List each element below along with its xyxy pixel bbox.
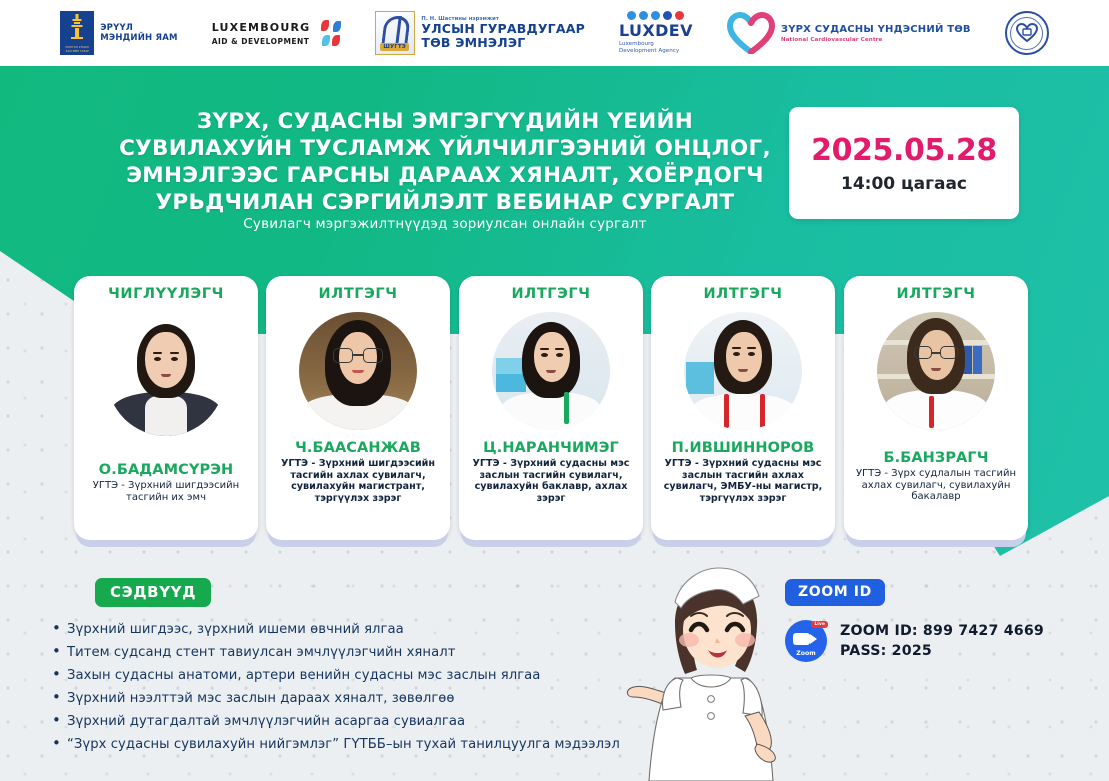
poster-canvas: МОНГОЛ УЛСЫН ЗАСГИЙН ГАЗАР ЭРҮҮЛ МЭНДИЙН…: [0, 0, 1109, 781]
speaker-card: ИЛТГЭГЧ: [844, 276, 1028, 540]
zoom-logo-label: Zoom: [785, 650, 827, 657]
list-item: Зүрхний шигдээс, зүрхний ишеми өвчний ял…: [45, 618, 665, 641]
speaker-card-list: ЧИГЛҮҮЛЭГЧ О.БАДАМСҮРЭН УГТЭ - Зүрхний ш…: [0, 276, 1109, 542]
luxdev-wordmark: LUXDEV: [619, 22, 693, 39]
sponsor-logo-bar: МОНГОЛ УЛСЫН ЗАСГИЙН ГАЗАР ЭРҮҮЛ МЭНДИЙН…: [0, 0, 1109, 66]
speaker-description: УГТЭ - Зүрхний шигдээсийн тасгийн их эмч: [81, 480, 251, 503]
hospital-line-3: ТӨВ ЭМНЭЛЭГ: [421, 36, 585, 50]
speaker-role: ИЛТГЭГЧ: [511, 286, 590, 302]
seal-heart-icon: [1016, 23, 1038, 43]
speaker-name: П.ИВШИННОРОВ: [672, 440, 815, 456]
list-item: “Зүрх судасны сувилахуйн нийгэмлэг” ГҮТБ…: [45, 733, 665, 756]
event-date: 2025.05.28: [811, 133, 997, 168]
speaker-photo: [877, 312, 995, 430]
zoom-passcode: PASS: 2025: [840, 641, 1044, 661]
speaker-photo: [492, 312, 610, 430]
event-time: 14:00 цагаас: [841, 174, 967, 194]
topics-list: Зүрхний шигдээс, зүрхний ишеми өвчний ял…: [45, 618, 665, 756]
speaker-name: Б.БАНЗРАГЧ: [883, 450, 988, 466]
ncc-line-en: National Cardiovascular Centre: [781, 37, 971, 43]
hospital-emblem-icon: ШУГТЭ: [375, 11, 415, 55]
speaker-name: Ц.НАРАНЧИМЭГ: [483, 440, 619, 456]
hospital-line-2: УЛСЫН ГУРАВДУГААР: [421, 22, 585, 36]
speaker-role: ЧИГЛҮҮЛЭГЧ: [108, 286, 224, 302]
speaker-photo: [107, 318, 225, 436]
luxembourg-line-1: LUXEMBOURG: [212, 21, 311, 34]
page-subtitle: Сувилагч мэргэжилтнүүдэд зориулсан онлай…: [115, 216, 775, 232]
list-item: Титем судсанд стент тавиулсан эмчлүүлэгч…: [45, 641, 665, 664]
logo-institution-seal: [1005, 11, 1049, 55]
luxdev-sub-2: Development Agency: [619, 48, 679, 55]
heart-icon: [727, 12, 775, 54]
ncc-label: ЗҮРХ СУДАСНЫ ҮНДЭСНИЙ ТӨВ National Cardi…: [781, 24, 971, 43]
luxembourg-line-2: AID & DEVELOPMENT: [212, 37, 311, 46]
list-item: Захын судасны анатоми, артери венийн суд…: [45, 664, 665, 687]
speaker-name: О.БАДАМСҮРЭН: [99, 462, 233, 478]
hospital-label: П. Н. Шастины нэрэмжит УЛСЫН ГУРАВДУГААР…: [421, 16, 585, 50]
mongolia-emblem-icon: МОНГОЛ УЛСЫН ЗАСГИЙН ГАЗАР: [60, 11, 94, 55]
speaker-card: ЧИГЛҮҮЛЭГЧ О.БАДАМСҮРЭН УГТЭ - Зүрхний ш…: [74, 276, 258, 540]
logo-luxembourg-aid: LUXEMBOURG AID & DEVELOPMENT: [212, 20, 342, 46]
zoom-details: Zoom Live ZOOM ID: 899 7427 4669 PASS: 2…: [785, 620, 1044, 662]
speaker-card: ИЛТГЭГЧ Ч.БААСАНЖАВ УГТЭ - Зүрхний шигдэ…: [266, 276, 450, 540]
hospital-emblem-badge: ШУГТЭ: [380, 43, 409, 51]
luxdev-sub-1: Luxembourg: [619, 41, 654, 48]
speaker-description: УГТЭ - Зүрх судлалын тасгийн ахлах сувил…: [851, 468, 1021, 503]
logo-ministry-of-health: МОНГОЛ УЛСЫН ЗАСГИЙН ГАЗАР ЭРҮҮЛ МЭНДИЙН…: [60, 11, 177, 55]
ministry-line-2: МЭНДИЙН ЯАМ: [100, 33, 177, 43]
ministry-line-1: ЭРҮҮЛ: [100, 23, 177, 33]
speaker-photo: [299, 312, 417, 430]
speaker-card: ИЛТГЭГЧ П.ИВШИННОРОВ УГТ: [651, 276, 835, 540]
speaker-description: УГТЭ - Зүрхний шигдээсийн тасгийн ахлах …: [273, 458, 443, 504]
ministry-emblem-caption: МОНГОЛ УЛСЫН ЗАСГИЙН ГАЗАР: [60, 46, 94, 53]
speaker-photo: [684, 312, 802, 430]
logo-state-third-hospital: ШУГТЭ П. Н. Шастины нэрэмжит УЛСЫН ГУРАВ…: [375, 11, 585, 55]
speaker-description: УГТЭ - Зүрхний судасны мэс заслын тасгий…: [658, 458, 828, 504]
luxembourg-petal-icon: [321, 20, 341, 46]
speaker-role: ИЛТГЭГЧ: [318, 286, 397, 302]
list-item: Зүрхний нээлттэй мэс заслын дараах хянал…: [45, 687, 665, 710]
zoom-meeting-id: ZOOM ID: 899 7427 4669: [840, 621, 1044, 641]
ncc-line-mn: ЗҮРХ СУДАСНЫ ҮНДЭСНИЙ ТӨВ: [781, 24, 971, 35]
speaker-card: ИЛТГЭГЧ Ц.НАРАНЧИМЭГ УГТ: [459, 276, 643, 540]
speaker-name: Ч.БААСАНЖАВ: [295, 440, 421, 456]
zoom-id-badge: ZOOM ID: [785, 579, 885, 606]
topics-badge: СЭДВҮҮД: [95, 578, 211, 607]
date-card: 2025.05.28 14:00 цагаас: [789, 107, 1019, 219]
speaker-description: УГТЭ - Зүрхний судасны мэс заслын тасгий…: [466, 458, 636, 504]
ministry-of-health-label: ЭРҮҮЛ МЭНДИЙН ЯАМ: [100, 23, 177, 43]
luxdev-dots-icon: [627, 11, 684, 20]
zoom-credentials: ZOOM ID: 899 7427 4669 PASS: 2025: [840, 621, 1044, 661]
luxembourg-label: LUXEMBOURG AID & DEVELOPMENT: [212, 21, 311, 46]
speaker-role: ИЛТГЭГЧ: [896, 286, 975, 302]
zoom-logo-icon: Zoom Live: [785, 620, 827, 662]
soyombo-icon: [71, 14, 84, 40]
list-item: Зүрхний дутагдалтай эмчлүүлэгчийн асарга…: [45, 710, 665, 733]
page-title: ЗҮРХ, СУДАСНЫ ЭМГЭГҮҮДИЙН ҮЕИЙН СУВИЛАХУ…: [115, 108, 775, 216]
logo-national-cardiovascular-centre: ЗҮРХ СУДАСНЫ ҮНДЭСНИЙ ТӨВ National Cardi…: [727, 12, 971, 54]
logo-luxdev: LUXDEV Luxembourg Development Agency: [619, 11, 693, 55]
speaker-role: ИЛТГЭГЧ: [703, 286, 782, 302]
zoom-live-badge: Live: [811, 621, 828, 628]
